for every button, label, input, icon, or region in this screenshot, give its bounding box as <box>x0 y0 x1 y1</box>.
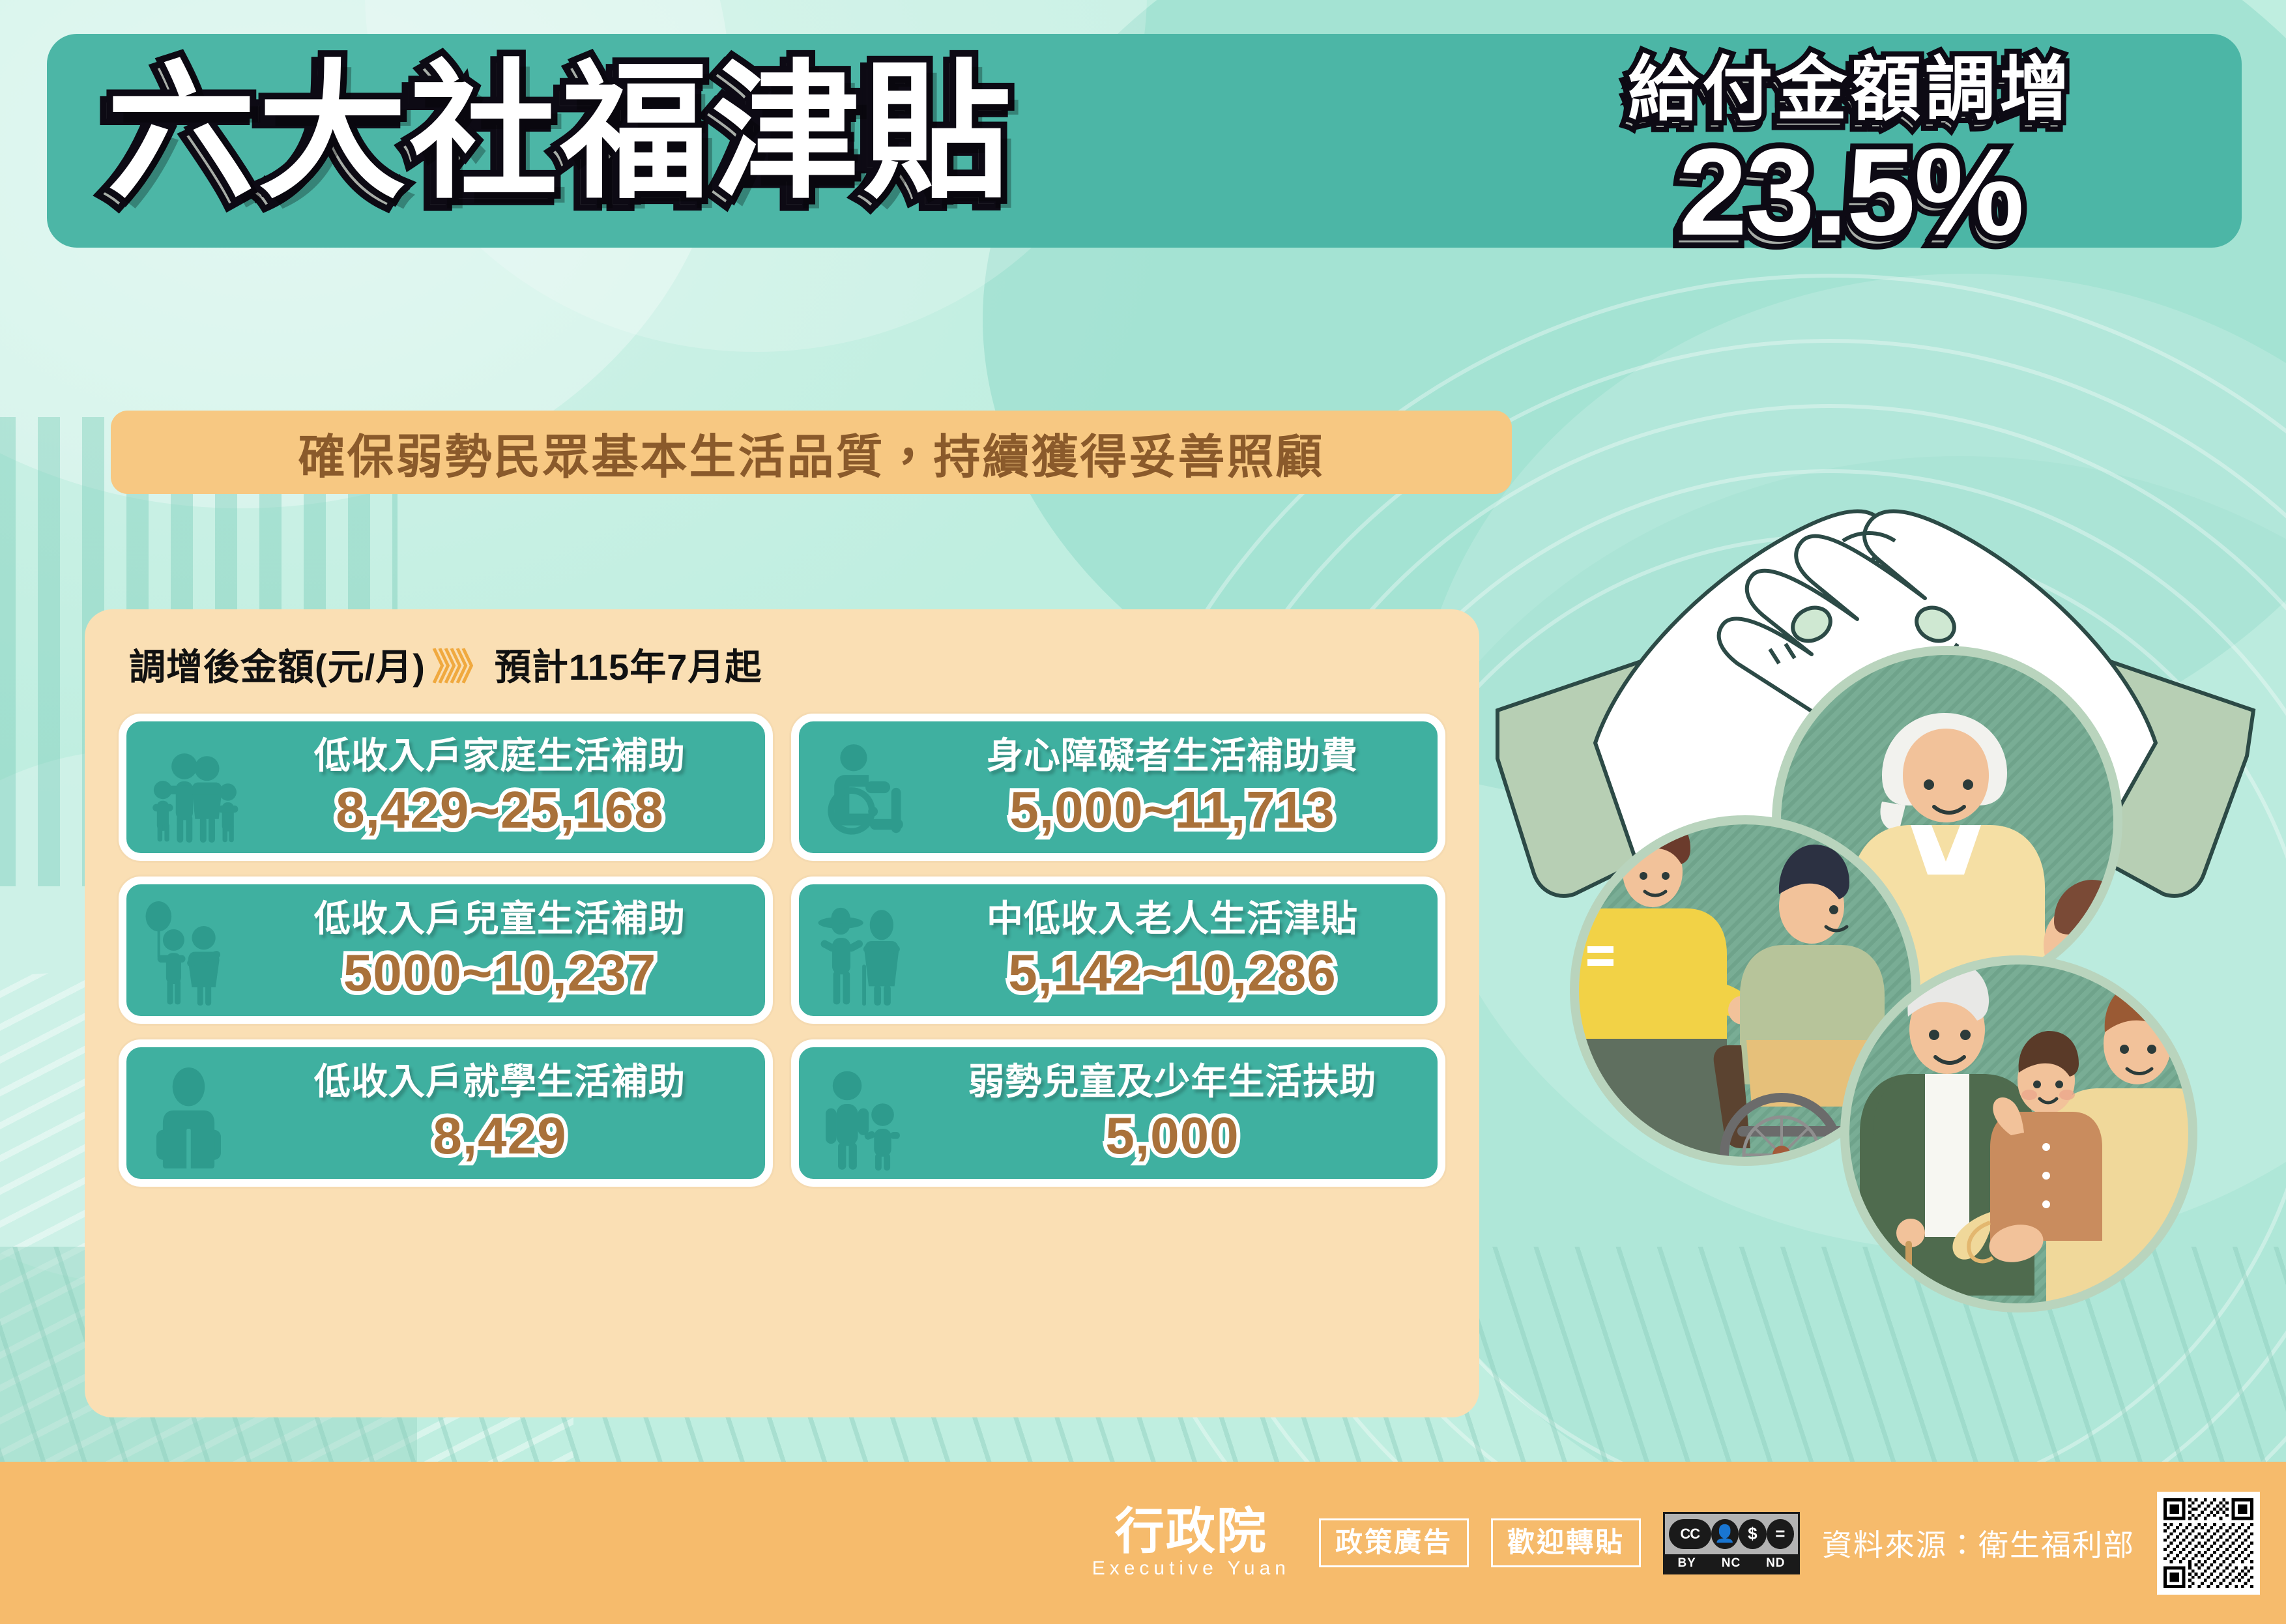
cc-icon-row: CC 👤 $ = <box>1665 1514 1798 1554</box>
caring-hands-illustration <box>1478 495 2273 1427</box>
benefit-amount: 8,429 <box>250 1109 749 1163</box>
header-panel: 六大社福津貼 六大社福津貼 給付金額調增 給付金額調增 23.5% 23.5% <box>47 34 2242 248</box>
benefit-card-body: 低收入戶兒童生活補助 5000~10,237 <box>250 900 765 1001</box>
percentage-block: 給付金額調增 給付金額調增 23.5% 23.5% <box>1525 51 2177 248</box>
benefit-title: 弱勢兒童及少年生活扶助 <box>923 1063 1422 1101</box>
percentage-value-wrap: 23.5% 23.5% <box>1525 130 2177 248</box>
creative-commons-badge-icon: CC 👤 $ = BY NC ND <box>1663 1512 1800 1574</box>
org-name-cn: 行政院 <box>1115 1507 1267 1556</box>
benefit-title: 中低收入老人生活津貼 <box>923 900 1422 938</box>
panel-header-right: 預計115年7月起 <box>495 638 762 691</box>
benefit-card-grid: 低收入戶家庭生活補助 8,429~25,168 身心障礙者生活補助費 5, <box>119 714 1445 1187</box>
benefit-card[interactable]: 低收入戶家庭生活補助 8,429~25,168 <box>119 714 773 861</box>
benefit-card-body: 身心障礙者生活補助費 5,000~11,713 <box>923 737 1438 838</box>
benefit-card[interactable]: 低收入戶兒童生活補助 5000~10,237 <box>119 877 773 1024</box>
percentage-label-wrap: 給付金額調增 給付金額調增 <box>1525 51 2177 134</box>
student-reading-icon <box>126 1047 250 1179</box>
cc-nd-noderivs-icon: = <box>1767 1519 1794 1549</box>
benefit-title: 低收入戶就學生活補助 <box>250 1063 749 1101</box>
benefit-card-body: 中低收入老人生活津貼 5,142~10,286 <box>923 900 1438 1001</box>
benefit-amount: 5,142~10,286 <box>923 946 1422 1000</box>
benefits-panel: 調增後金額(元/月) 》》》 預計115年7月起 <box>85 609 1479 1417</box>
percentage-value: 23.5% <box>1525 130 2177 254</box>
cc-logo-icon: CC <box>1669 1519 1711 1549</box>
footer-bar: 行政院 Executive Yuan 政策廣告 歡迎轉貼 CC 👤 $ = BY… <box>0 1462 2286 1624</box>
executive-yuan-logo: 行政院 Executive Yuan <box>1092 1507 1290 1580</box>
qr-code[interactable] <box>2157 1492 2260 1595</box>
benefit-amount: 5000~10,237 <box>250 946 749 1000</box>
panel-header-left: 調增後金額(元/月) <box>129 638 426 691</box>
tag-policy-ad: 政策廣告 <box>1319 1518 1469 1567</box>
benefit-card-body: 弱勢兒童及少年生活扶助 5,000 <box>923 1063 1438 1164</box>
tag-welcome-share: 歡迎轉貼 <box>1491 1518 1641 1567</box>
qr-code-image <box>2163 1498 2253 1588</box>
benefit-card[interactable]: 身心障礙者生活補助費 5,000~11,713 <box>791 714 1445 861</box>
benefit-card[interactable]: 低收入戶就學生活補助 8,429 <box>119 1039 773 1187</box>
benefit-card[interactable]: 中低收入老人生活津貼 5,142~10,286 <box>791 877 1445 1024</box>
benefit-amount: 5,000~11,713 <box>923 783 1422 837</box>
cc-nc-nocommercial-icon: $ <box>1739 1519 1766 1549</box>
benefit-card[interactable]: 弱勢兒童及少年生活扶助 5,000 <box>791 1039 1445 1187</box>
cc-label-nc: NC <box>1722 1556 1741 1571</box>
children-balloon-icon <box>126 884 250 1016</box>
wheelchair-icon <box>799 721 923 853</box>
family-group-icon <box>126 721 250 853</box>
footer-content: 行政院 Executive Yuan 政策廣告 歡迎轉貼 CC 👤 $ = BY… <box>0 1462 2286 1624</box>
org-name-en: Executive Yuan <box>1092 1558 1290 1580</box>
chevrons-right-icon: 》》》 <box>432 638 485 691</box>
elderly-couple-icon <box>799 884 923 1016</box>
benefit-card-body: 低收入戶家庭生活補助 8,429~25,168 <box>250 737 765 838</box>
benefit-amount: 5,000 <box>923 1109 1422 1163</box>
benefit-card-body: 低收入戶就學生活補助 8,429 <box>250 1063 765 1164</box>
cc-label-by: BY <box>1677 1556 1696 1571</box>
benefit-title: 低收入戶家庭生活補助 <box>250 737 749 776</box>
cc-label-row: BY NC ND <box>1665 1554 1798 1573</box>
panel-header: 調增後金額(元/月) 》》》 預計115年7月起 <box>129 638 762 691</box>
benefit-title: 低收入戶兒童生活補助 <box>250 900 749 938</box>
data-source-text: 資料來源：衛生福利部 <box>1822 1522 2135 1565</box>
cc-label-nd: ND <box>1766 1556 1785 1571</box>
parent-child-icon <box>799 1047 923 1179</box>
percentage-label: 給付金額調增 <box>1525 51 2177 128</box>
cc-by-person-icon: 👤 <box>1711 1519 1739 1549</box>
grandfather-baby-father-photo <box>1836 951 2229 1329</box>
benefit-amount: 8,429~25,168 <box>250 783 749 837</box>
subtitle-banner: 確保弱勢民眾基本生活品質，持續獲得妥善照顧 <box>111 411 1512 494</box>
page-title: 六大社福津貼 <box>107 59 1014 207</box>
benefit-title: 身心障礙者生活補助費 <box>923 737 1422 776</box>
